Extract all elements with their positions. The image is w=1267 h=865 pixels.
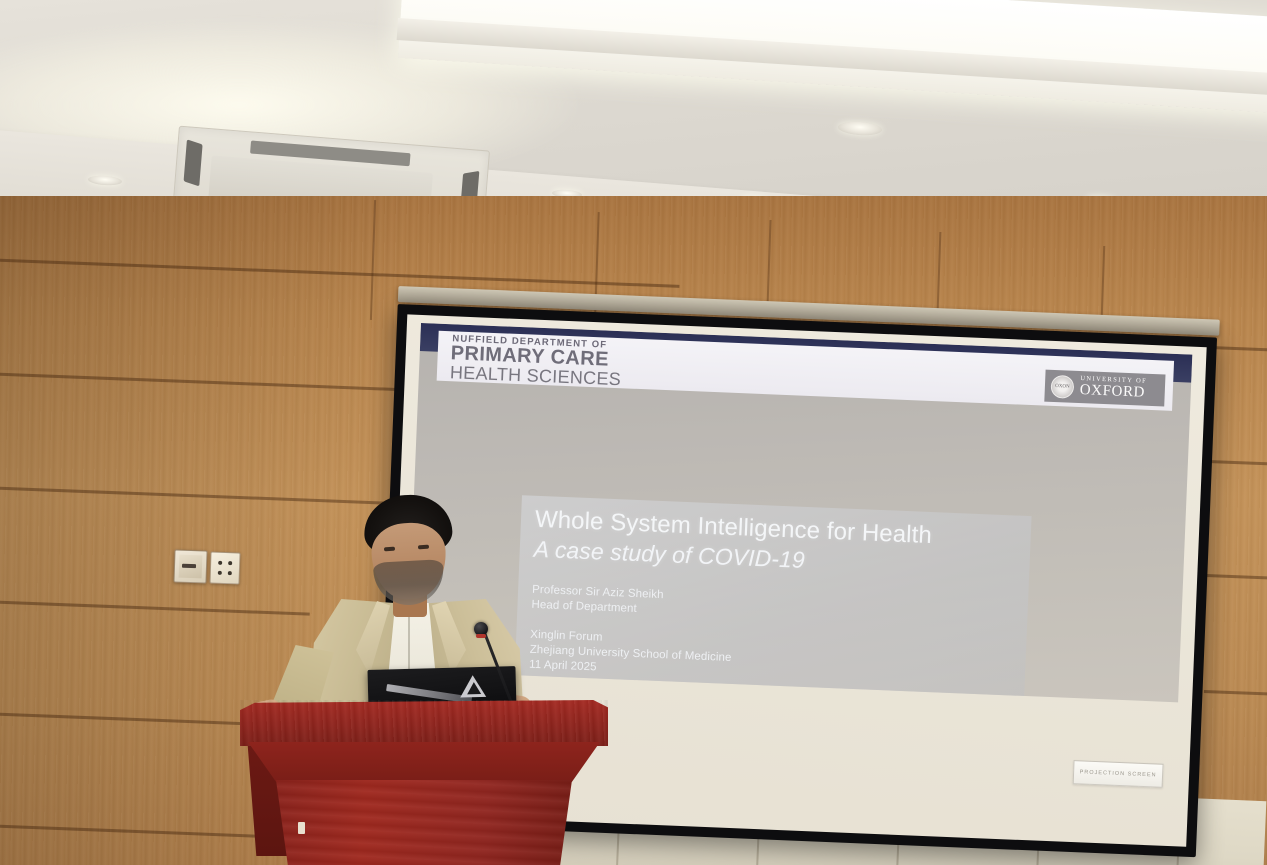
light-switch-plate[interactable]	[209, 551, 240, 584]
podium	[240, 700, 610, 865]
screen-sign-label: PROJECTION SCREEN	[1073, 760, 1164, 788]
power-outlet-plate[interactable]	[173, 549, 207, 583]
presenter-name: Professor Sir Aziz Sheikh	[532, 584, 664, 601]
podium-control-button[interactable]	[298, 822, 305, 834]
podium-body-grain	[276, 780, 572, 865]
oxford-name: OXFORD	[1079, 383, 1146, 401]
lecture-hall-photo: NUFFIELD DEPARTMENT OF PRIMARY CARE HEAL…	[0, 0, 1267, 865]
podium-top-grain	[240, 700, 608, 746]
triangle-logo-inner	[467, 682, 481, 694]
oxford-logo-text: UNIVERSITY OF OXFORD	[1079, 376, 1147, 401]
screen-sign-text: PROJECTION SCREEN	[1080, 769, 1157, 778]
podium-bevel	[248, 742, 600, 782]
outlet-slot	[182, 564, 196, 568]
oxford-crest-icon: OXON	[1050, 374, 1074, 398]
eye-right	[418, 545, 429, 550]
beard	[373, 559, 445, 607]
microphone-accent-ring	[476, 634, 486, 638]
oxford-logo: OXON UNIVERSITY OF OXFORD	[1044, 370, 1165, 407]
slide-text-panel: Whole System Intelligence for Health A c…	[514, 495, 1031, 700]
ac-grille-left	[184, 139, 203, 186]
eye-left	[384, 547, 395, 552]
